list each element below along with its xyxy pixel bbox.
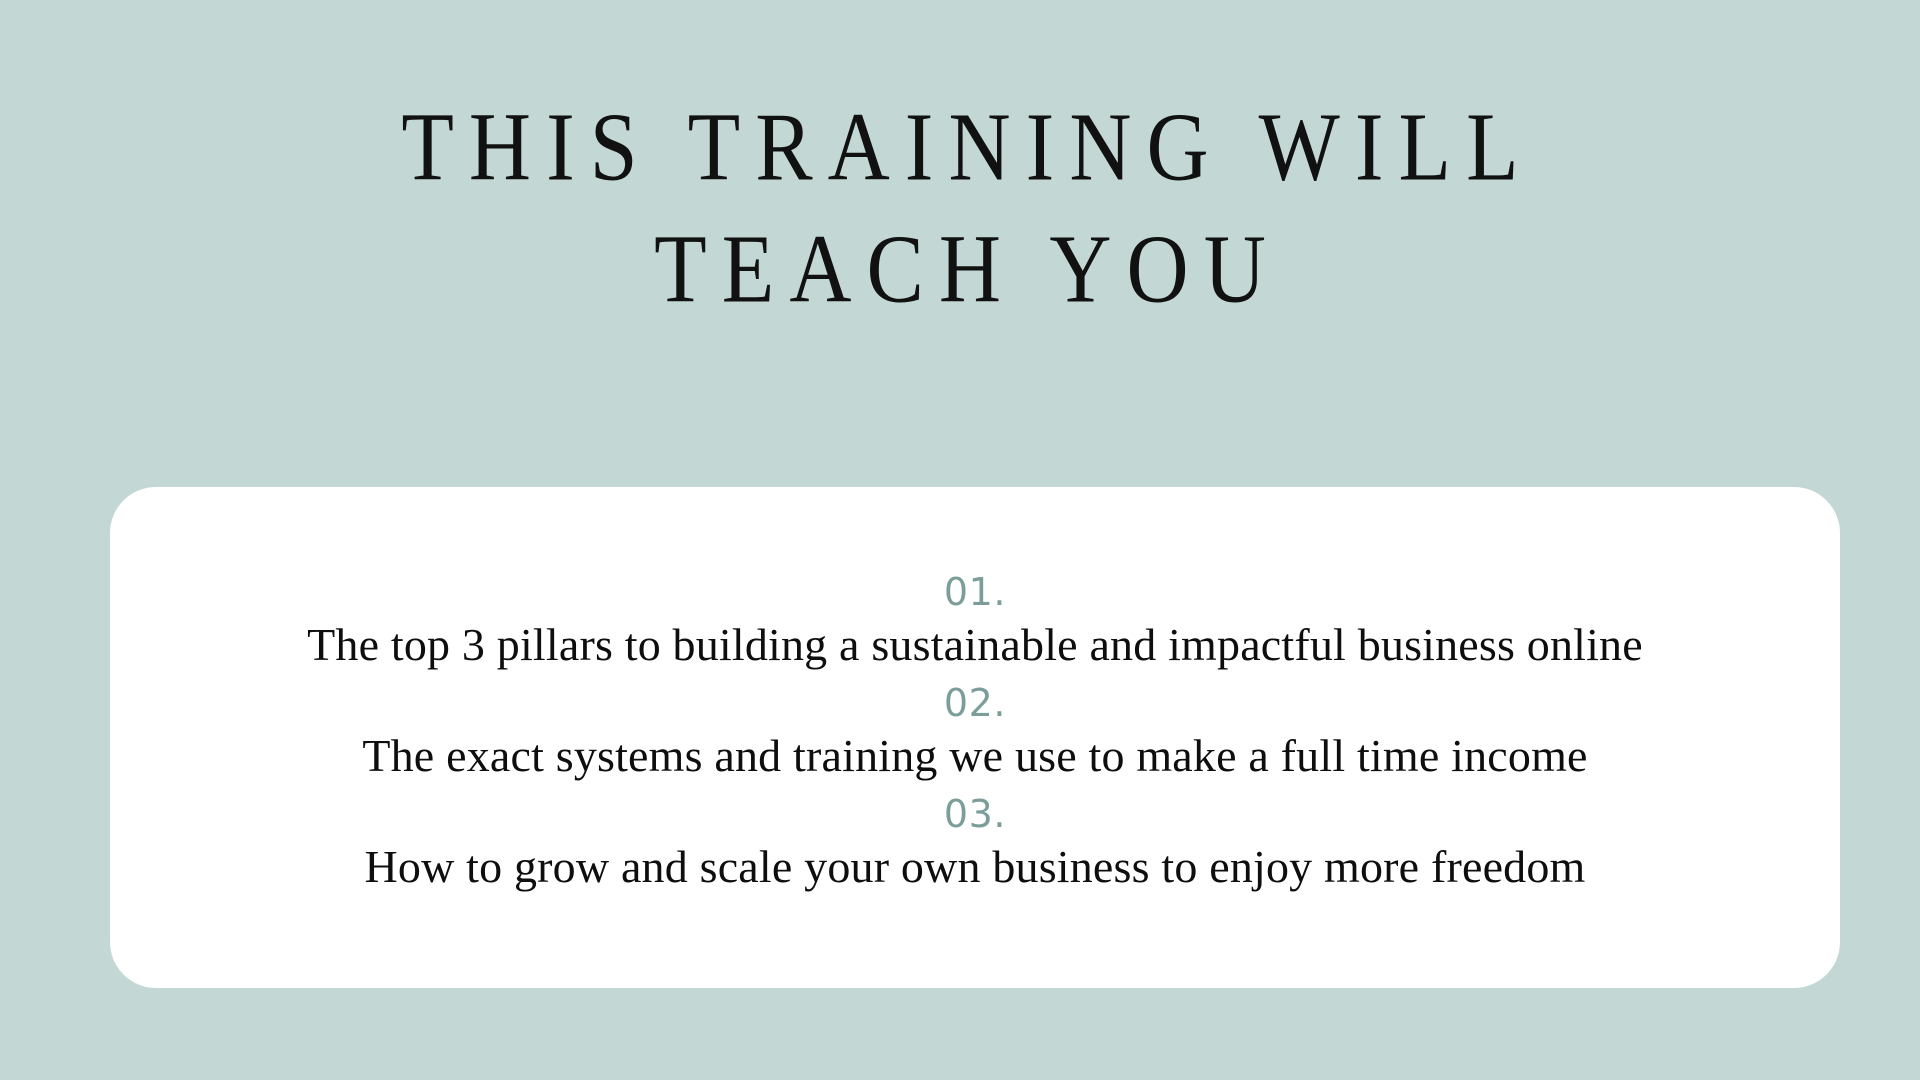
- list-item-text: How to grow and scale your own business …: [150, 837, 1800, 898]
- list-item-number: 03.: [150, 791, 1800, 837]
- content-card: 01. The top 3 pillars to building a sust…: [110, 487, 1840, 988]
- list-item: 01. The top 3 pillars to building a sust…: [150, 569, 1800, 676]
- list-item-number: 02.: [150, 680, 1800, 726]
- list-item-number: 01.: [150, 569, 1800, 615]
- list-item: 02. The exact systems and training we us…: [150, 676, 1800, 787]
- list-item-text: The exact systems and training we use to…: [150, 726, 1800, 787]
- page-title-line-1: THIS TRAINING WILL: [0, 78, 1920, 216]
- page-title: THIS TRAINING WILL TEACH YOU: [0, 78, 1920, 322]
- list-item: 03. How to grow and scale your own busin…: [150, 787, 1800, 898]
- list-item-text: The top 3 pillars to building a sustaina…: [150, 615, 1800, 676]
- page-title-line-2: TEACH YOU: [0, 200, 1920, 338]
- slide-canvas: THIS TRAINING WILL TEACH YOU 01. The top…: [0, 0, 1920, 1080]
